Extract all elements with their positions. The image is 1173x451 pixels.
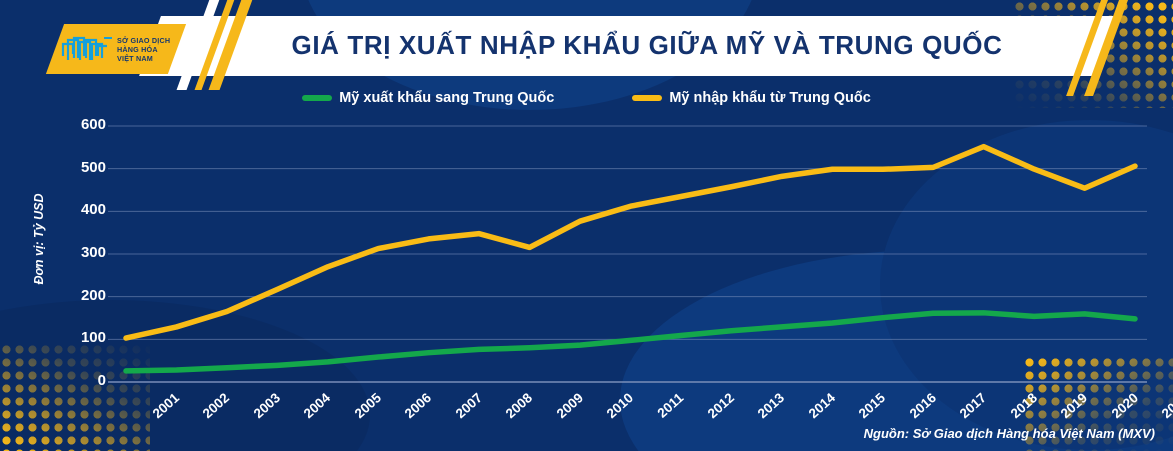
series-line-export[interactable] xyxy=(126,313,1135,371)
plot-area xyxy=(0,0,1173,451)
chart-canvas: SỞ GIAO DỊCH HÀNG HÓA VIỆT NAM GIÁ TRỊ X… xyxy=(0,0,1173,451)
series-svg xyxy=(0,0,1173,451)
series-line-import[interactable] xyxy=(126,147,1135,338)
source-note: Nguồn: Sở Giao dịch Hàng hóa Việt Nam (M… xyxy=(864,426,1155,441)
